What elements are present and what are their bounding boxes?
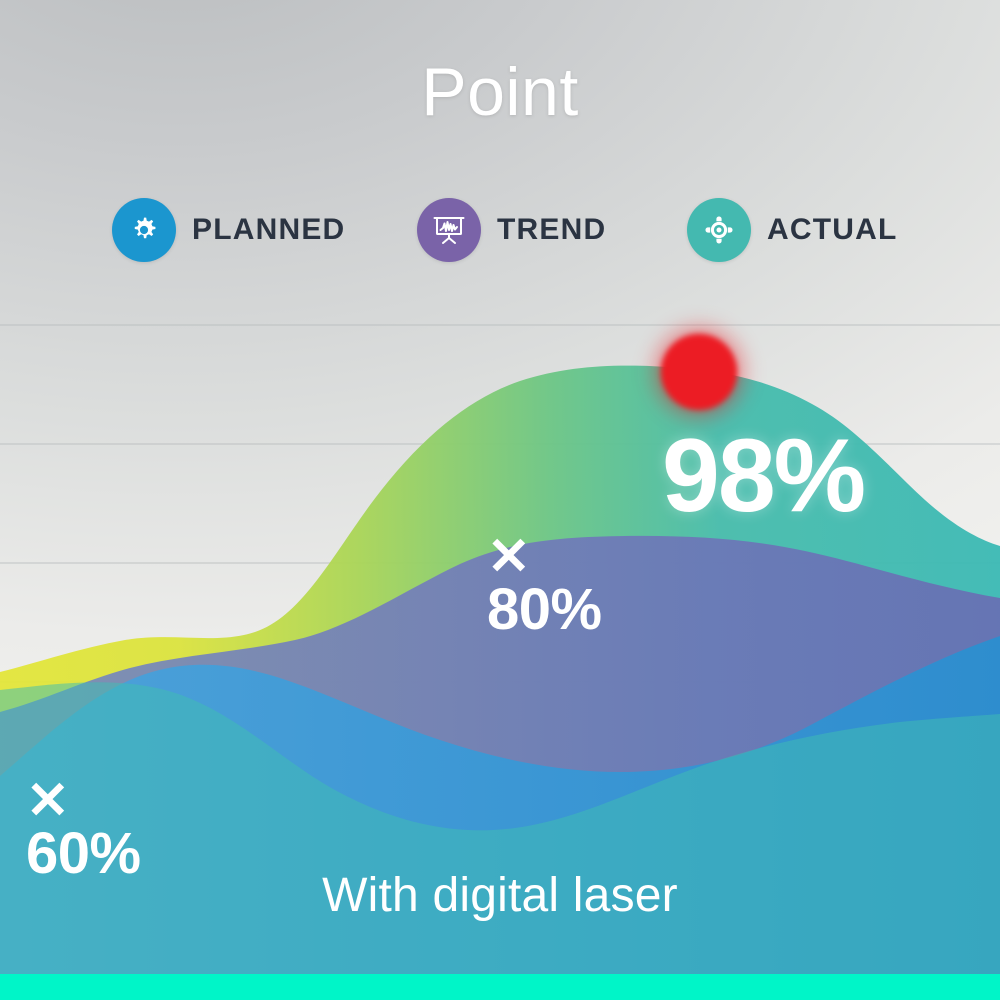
legend-item-trend[interactable]: TREND [417, 198, 687, 262]
legend-label-planned: PLANNED [192, 213, 345, 247]
chart-caption: With digital laser [0, 868, 1000, 923]
red-laser-dot-icon [661, 334, 737, 410]
page-title: Point [0, 58, 1000, 126]
crosshair-target-icon [687, 198, 751, 262]
laser-dot-core [661, 334, 737, 410]
data-label-80-group: ✕ 80% [487, 534, 602, 639]
chart-legend: PLANNED TREND [112, 198, 920, 262]
x-marker-icon-80: ✕ [487, 534, 602, 581]
legend-item-actual[interactable]: ACTUAL [687, 198, 898, 262]
bottom-accent-bar [0, 974, 1000, 1000]
x-marker-icon-60: ✕ [26, 778, 141, 825]
infographic-canvas: Point PLANNED [0, 0, 1000, 1000]
legend-label-trend: TREND [497, 213, 606, 247]
presentation-chart-icon [417, 198, 481, 262]
data-label-80: 80% [487, 581, 602, 639]
legend-item-planned[interactable]: PLANNED [112, 198, 417, 262]
data-label-98: 98% [662, 424, 864, 528]
legend-label-actual: ACTUAL [767, 213, 898, 247]
gear-icon [112, 198, 176, 262]
